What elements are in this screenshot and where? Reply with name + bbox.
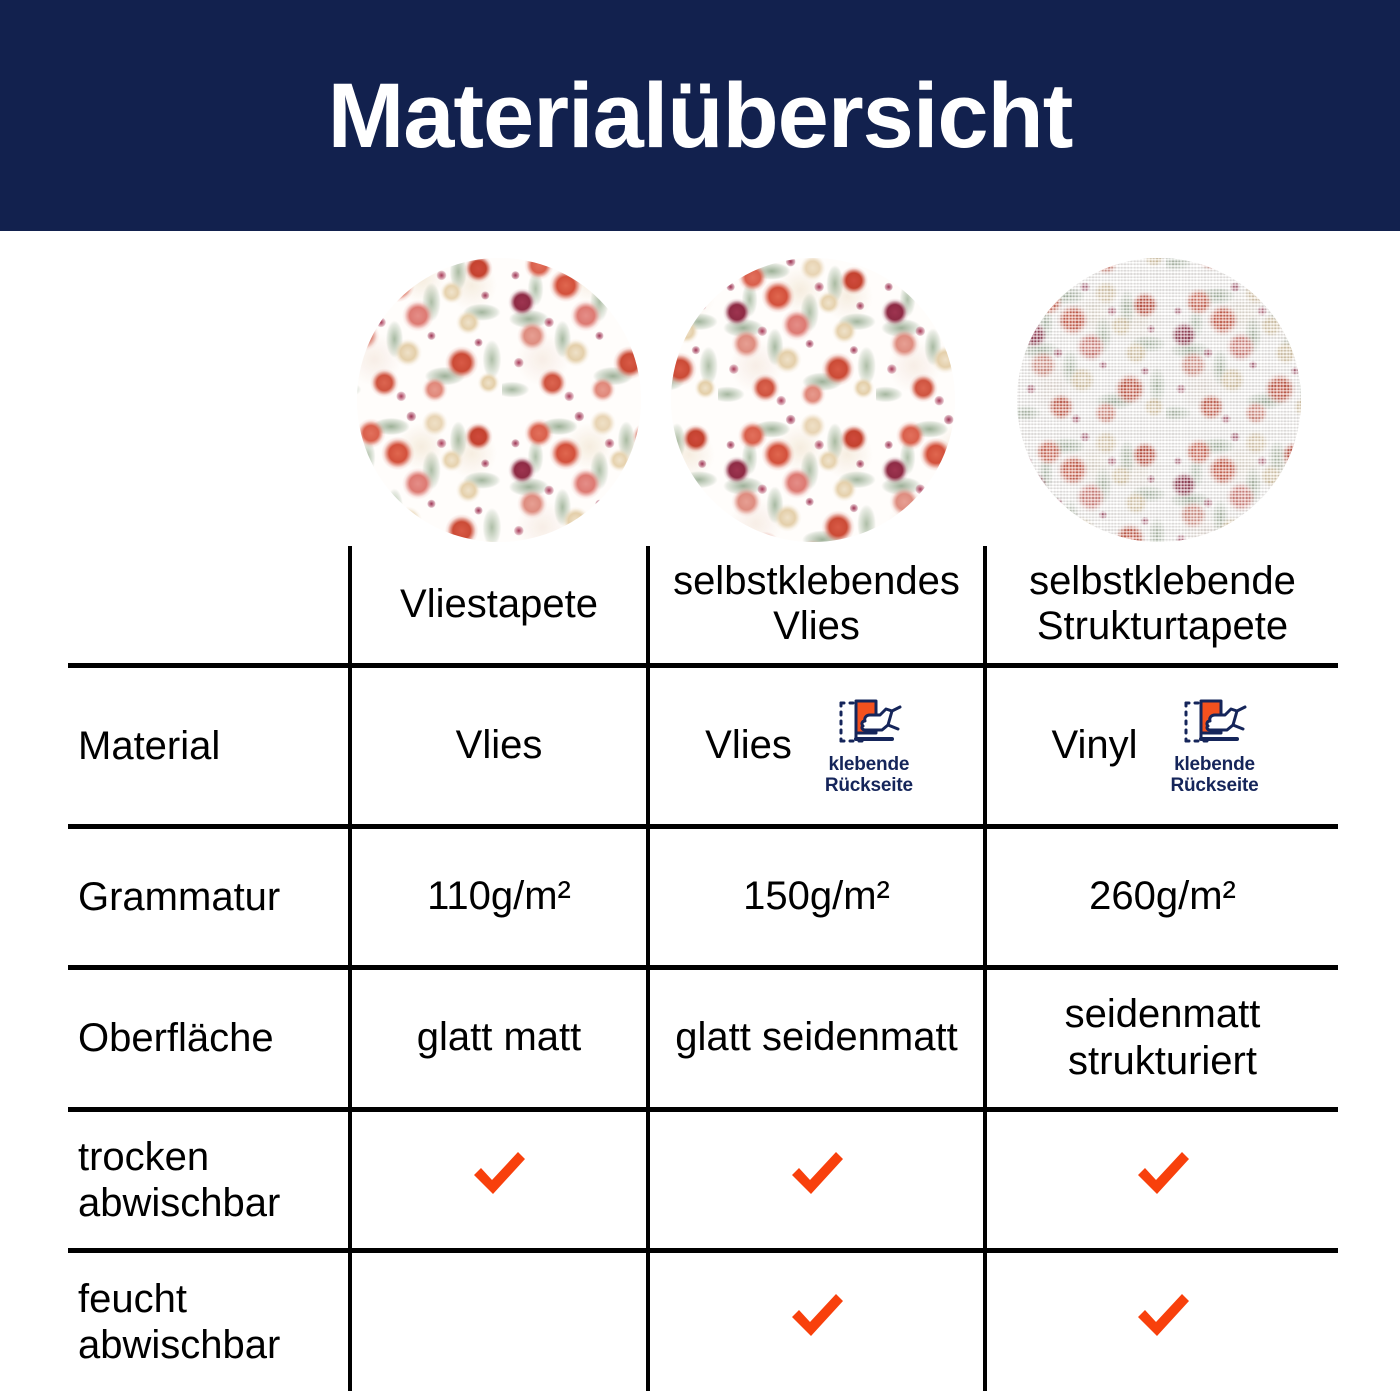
column-header-selbstklebendes-vlies: selbstklebendes Vlies — [648, 546, 985, 665]
page-title: Materialübersicht — [328, 70, 1073, 162]
badge-line-2: Rückseite — [1171, 775, 1259, 796]
cell-material-strukturtapete: Vinyl — [985, 665, 1338, 826]
checkmark-icon — [786, 1288, 848, 1344]
table-row-trocken-abwischbar: trocken abwischbar — [68, 1109, 1338, 1250]
cell-feucht-selbstklebendes-vlies — [648, 1250, 985, 1391]
table-row-grammatur: Grammatur 110g/m² 150g/m² 260g/m² — [68, 826, 1338, 967]
checkmark-icon — [468, 1146, 530, 1202]
no-checkmark — [499, 1333, 500, 1334]
badge-line-1: klebende — [1174, 754, 1255, 775]
row-label-oberflaeche: Oberfläche — [68, 967, 350, 1109]
swatch-row — [68, 258, 1338, 546]
badge-label: klebende Rückseite — [825, 754, 913, 797]
swatch-strukturtapete — [1017, 258, 1301, 542]
cell-grammatur-selbstklebendes-vlies: 150g/m² — [648, 826, 985, 967]
cell-feucht-vliestapete — [350, 1250, 648, 1391]
cell-oberflaeche-strukturtapete: seidenmatt strukturiert — [985, 967, 1338, 1109]
badge-line-2: Rückseite — [825, 775, 913, 796]
cell-value: Vlies — [705, 722, 792, 769]
cell-trocken-vliestapete — [350, 1109, 648, 1250]
table-row-oberflaeche: Oberfläche glatt matt glatt seidenmatt s… — [68, 967, 1338, 1109]
badge-line-1: klebende — [828, 754, 909, 775]
peel-sticker-hand-icon — [1177, 695, 1251, 751]
cell-trocken-selbstklebendes-vlies — [648, 1109, 985, 1250]
material-spec-table-wrapper: Vliestapete selbstklebendes Vlies selbst… — [68, 546, 1338, 1391]
peel-sticker-hand-icon — [832, 695, 906, 751]
row-label-trocken-abwischbar: trocken abwischbar — [68, 1109, 350, 1250]
material-overview-page: Materialübersicht Vliestapete selbs — [0, 0, 1400, 1400]
cell-grammatur-strukturtapete: 260g/m² — [985, 826, 1338, 967]
cell-material-vliestapete: Vlies — [350, 665, 648, 826]
table-row-feucht-abwischbar: feucht abwischbar — [68, 1250, 1338, 1391]
floral-pattern-icon — [671, 258, 955, 542]
cell-value: Vinyl — [1052, 722, 1138, 769]
cell-oberflaeche-vliestapete: glatt matt — [350, 967, 648, 1109]
table-corner-cell — [68, 546, 350, 665]
row-label-grammatur: Grammatur — [68, 826, 350, 967]
cell-trocken-strukturtapete — [985, 1109, 1338, 1250]
cell-feucht-strukturtapete — [985, 1250, 1338, 1391]
material-spec-table: Vliestapete selbstklebendes Vlies selbst… — [68, 546, 1338, 1391]
checkmark-icon — [1132, 1288, 1194, 1344]
adhesive-back-badge: klebende Rückseite — [810, 695, 928, 797]
row-label-material: Material — [68, 665, 350, 826]
badge-label: klebende Rückseite — [1171, 754, 1259, 797]
column-header-strukturtapete: selbstklebende Strukturtapete — [985, 546, 1338, 665]
checkmark-icon — [786, 1146, 848, 1202]
checkmark-icon — [1132, 1146, 1194, 1202]
cell-grammatur-vliestapete: 110g/m² — [350, 826, 648, 967]
table-row-material: Material Vlies Vlies — [68, 665, 1338, 826]
cell-value: Vlies — [456, 722, 543, 769]
column-header-vliestapete: Vliestapete — [350, 546, 648, 665]
table-header-row: Vliestapete selbstklebendes Vlies selbst… — [68, 546, 1338, 665]
cell-material-selbstklebendes-vlies: Vlies — [648, 665, 985, 826]
row-label-feucht-abwischbar: feucht abwischbar — [68, 1250, 350, 1391]
floral-pattern-icon — [357, 258, 641, 542]
swatch-selbstklebendes-vlies — [671, 258, 955, 542]
woven-texture-icon — [1017, 258, 1301, 542]
cell-oberflaeche-selbstklebendes-vlies: glatt seidenmatt — [648, 967, 985, 1109]
adhesive-back-badge: klebende Rückseite — [1155, 695, 1273, 797]
page-header-banner: Materialübersicht — [0, 0, 1400, 231]
swatch-vliestapete — [357, 258, 641, 542]
